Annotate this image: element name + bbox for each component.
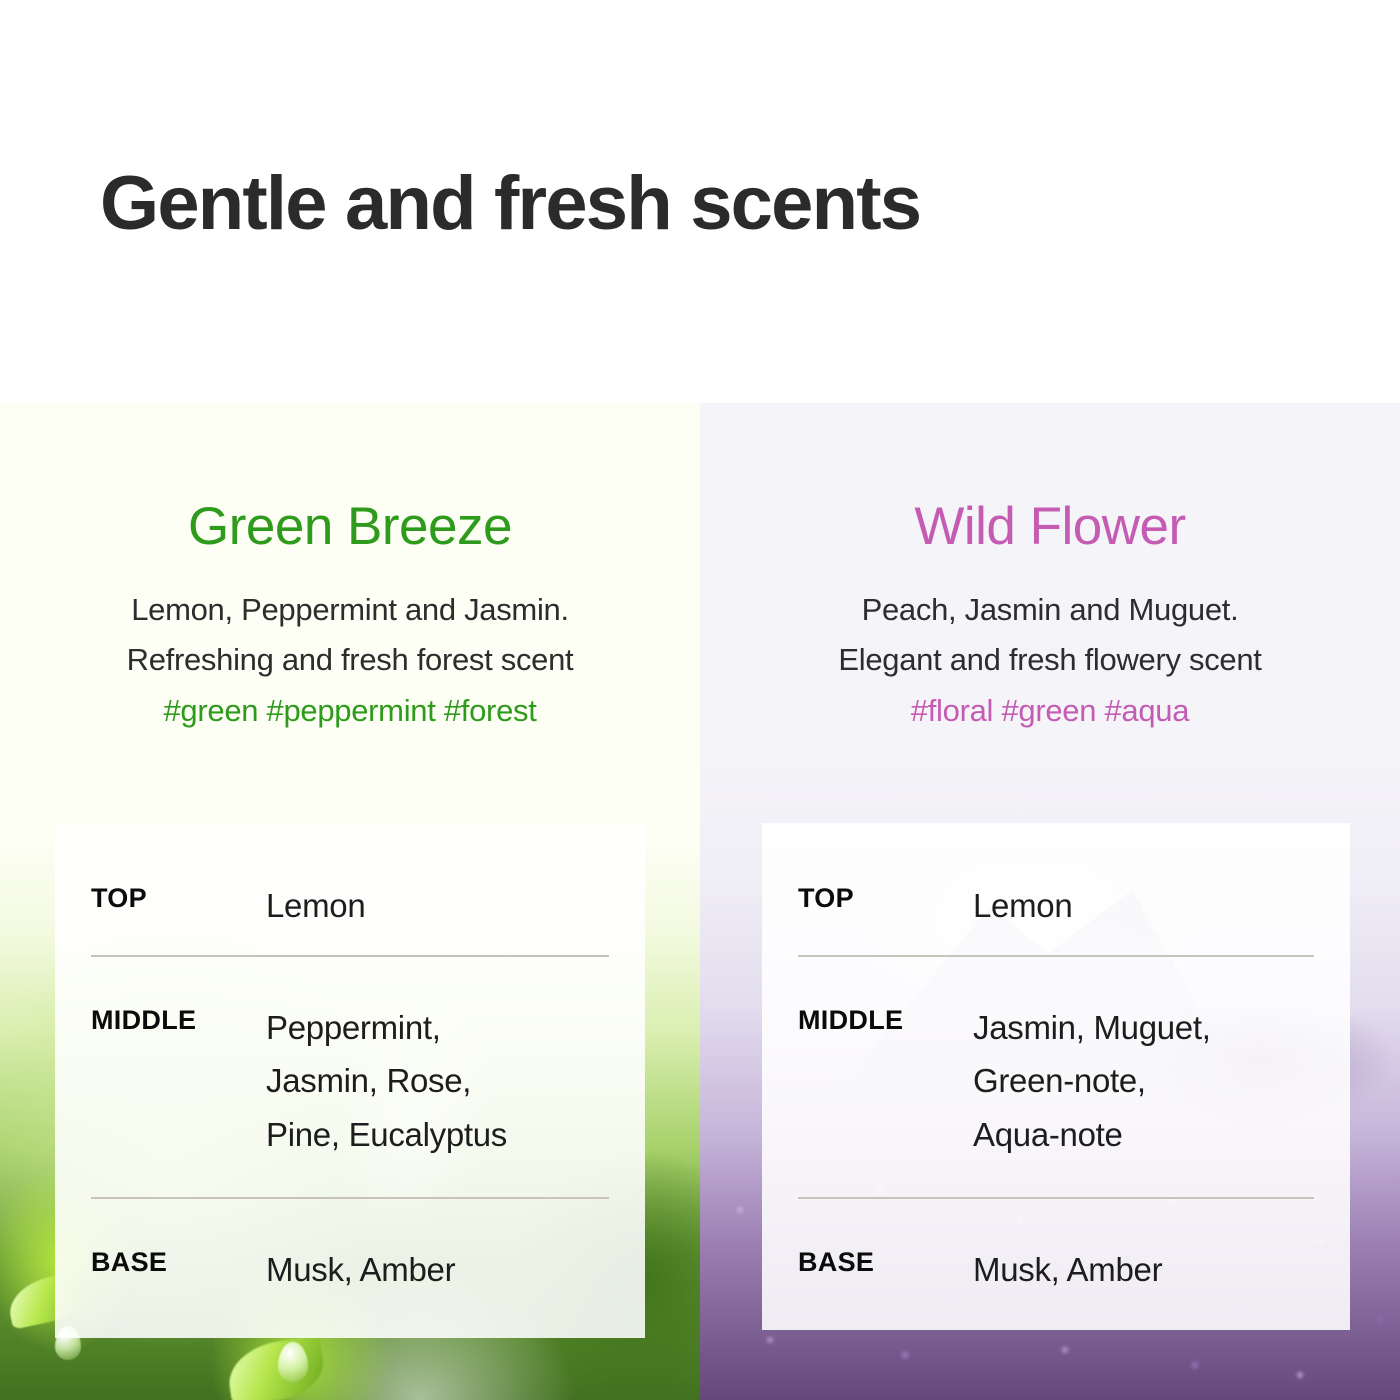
scent-description: Peach, Jasmin and Muguet. Elegant and fr… [700,585,1400,737]
note-row-middle: MIDDLE Jasmin, Muguet, Green-note, Aqua-… [798,957,1314,1161]
note-row-top: TOP Lemon [798,823,1314,955]
note-value: Jasmin, Muguet, Green-note, Aqua-note [973,1001,1211,1161]
scent-description-line-1: Peach, Jasmin and Muguet. [700,585,1400,636]
note-row-base: BASE Musk, Amber [91,1199,609,1296]
note-value: Lemon [266,879,365,932]
scent-name: Green Breeze [0,499,700,555]
note-label: TOP [798,879,973,914]
note-row-middle: MIDDLE Peppermint, Jasmin, Rose, Pine, E… [91,957,609,1161]
note-label: MIDDLE [798,1001,973,1036]
scent-panels: Green Breeze Lemon, Peppermint and Jasmi… [0,403,1400,1400]
scent-heading-wild-flower: Wild Flower Peach, Jasmin and Muguet. El… [700,499,1400,737]
page-header: Gentle and fresh scents [0,0,1400,403]
scent-description: Lemon, Peppermint and Jasmin. Refreshing… [0,585,700,737]
notes-card-wild-flower: TOP Lemon MIDDLE Jasmin, Muguet, Green-n… [762,823,1350,1330]
note-value: Musk, Amber [266,1243,455,1296]
scent-heading-green-breeze: Green Breeze Lemon, Peppermint and Jasmi… [0,499,700,737]
scent-description-line-1: Lemon, Peppermint and Jasmin. [0,585,700,636]
green-sprout-icon [224,1336,327,1400]
note-row-base: BASE Musk, Amber [798,1199,1314,1296]
note-value: Peppermint, Jasmin, Rose, Pine, Eucalypt… [266,1001,507,1161]
note-label: MIDDLE [91,1001,266,1036]
scent-name: Wild Flower [700,499,1400,555]
notes-card-green-breeze: TOP Lemon MIDDLE Peppermint, Jasmin, Ros… [55,823,645,1338]
note-value: Lemon [973,879,1072,932]
scent-description-line-2: Elegant and fresh flowery scent [700,635,1400,686]
page-title: Gentle and fresh scents [100,166,920,242]
panel-wild-flower: Wild Flower Peach, Jasmin and Muguet. El… [700,403,1400,1400]
scent-tags: #floral #green #aqua [700,686,1400,737]
panel-green-breeze: Green Breeze Lemon, Peppermint and Jasmi… [0,403,700,1400]
note-label: BASE [798,1243,973,1278]
note-row-top: TOP Lemon [91,823,609,955]
scent-tags: #green #peppermint #forest [0,686,700,737]
note-value: Musk, Amber [973,1243,1162,1296]
note-label: TOP [91,879,266,914]
note-label: BASE [91,1243,266,1278]
scent-description-line-2: Refreshing and fresh forest scent [0,635,700,686]
